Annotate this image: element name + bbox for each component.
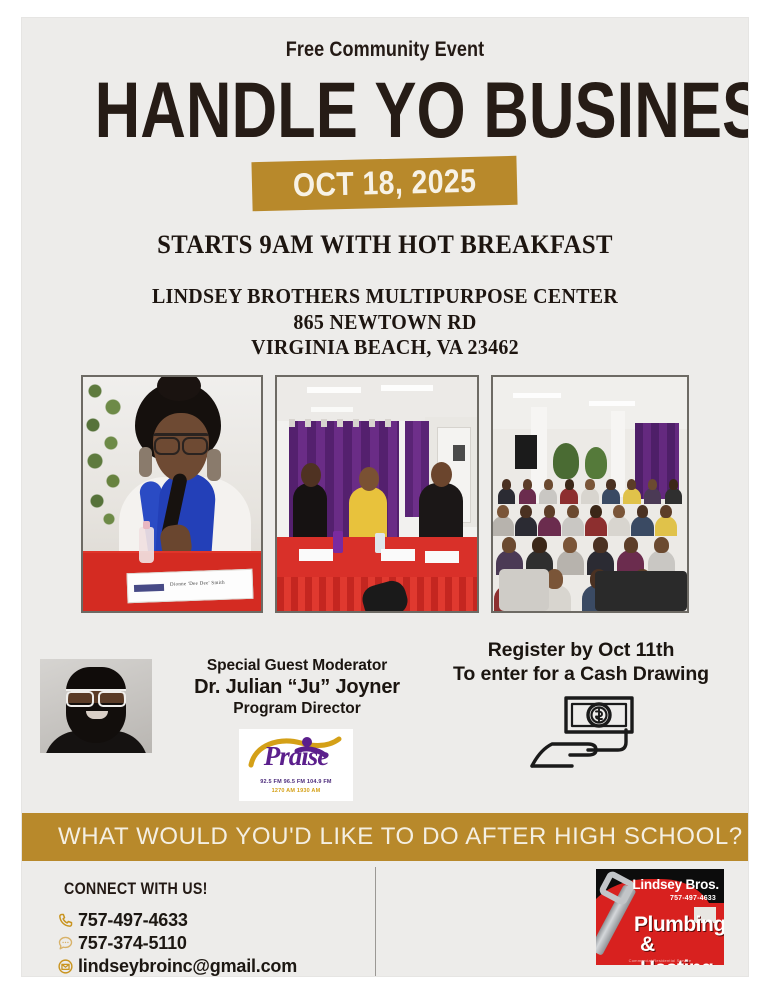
panelist-speaking-photo: Dionne 'Dee Dee' Smith bbox=[81, 375, 263, 613]
event-date-badge: OCT 18, 2025 bbox=[252, 155, 518, 210]
chat-icon bbox=[52, 935, 78, 952]
question-banner-text: WHAT WOULD YOU'D LIKE TO DO AFTER HIGH S… bbox=[22, 823, 743, 851]
lindsey-bros-sponsor-logo: Lindsey Bros. 757-497-4633 Plumbing & He… bbox=[596, 869, 724, 965]
email-address: lindseybroinc@gmail.com bbox=[78, 956, 297, 976]
moderator-headshot bbox=[40, 659, 152, 753]
name-placard: Dionne 'Dee Dee' Smith bbox=[127, 569, 254, 603]
moderator-text-block: Special Guest Moderator Dr. Julian “Ju” … bbox=[172, 657, 422, 718]
contact-row-text[interactable]: 757-374-5110 bbox=[52, 932, 297, 955]
photo-strip: Dionne 'Dee Dee' Smith bbox=[22, 375, 748, 613]
praise-fm-frequencies: 92.5 FM 96.5 FM 104.9 FM bbox=[239, 779, 353, 785]
praise-am-frequencies: 1270 AM 1930 AM bbox=[239, 788, 353, 794]
sponsor-name: Lindsey Bros. bbox=[632, 877, 719, 892]
footer-divider bbox=[375, 867, 376, 976]
question-banner: WHAT WOULD YOU'D LIKE TO DO AFTER HIGH S… bbox=[22, 813, 748, 861]
page-title: HANDLE YO BUSINESS bbox=[95, 74, 676, 147]
connect-heading: CONNECT WITH US! bbox=[64, 879, 208, 899]
register-block: Register by Oct 11th To enter for a Cash… bbox=[420, 639, 742, 770]
register-deadline: Register by Oct 11th bbox=[420, 639, 742, 662]
moderator-register-row: Special Guest Moderator Dr. Julian “Ju” … bbox=[22, 639, 748, 799]
contact-row-email[interactable]: lindseybroinc@gmail.com bbox=[52, 955, 297, 976]
sponsor-phone: 757-497-4633 bbox=[670, 895, 716, 902]
sponsor-tagline: Commercial Residential Service bbox=[596, 958, 724, 963]
venue-name: LINDSEY BROTHERS MULTIPURPOSE CENTER bbox=[40, 284, 730, 310]
moderator-label: Special Guest Moderator bbox=[172, 657, 422, 675]
phone-number-1: 757-497-4633 bbox=[78, 910, 188, 931]
moderator-name: Dr. Julian “Ju” Joyner bbox=[172, 676, 422, 699]
date-badge-wrap: OCT 18, 2025 bbox=[22, 159, 748, 208]
phone-number-2: 757-374-5110 bbox=[78, 933, 187, 954]
venue-city-state-zip: VIRGINIA BEACH, VA 23462 bbox=[40, 335, 730, 361]
phone-icon bbox=[52, 912, 78, 929]
contact-row-phone[interactable]: 757-497-4633 bbox=[52, 909, 297, 932]
praise-radio-logo: Praise 92.5 FM 96.5 FM 104.9 FM 1270 AM … bbox=[239, 729, 353, 801]
footer: CONNECT WITH US! 757-497-4633 bbox=[22, 861, 748, 976]
audience-room-photo bbox=[491, 375, 689, 613]
flyer-page: Free Community Event HANDLE YO BUSINESS … bbox=[22, 18, 748, 976]
kicker-text: Free Community Event bbox=[73, 38, 697, 62]
contact-list: 757-497-4633 757-374-5110 bbox=[52, 909, 297, 976]
praise-wordmark: Praise bbox=[239, 741, 353, 772]
envelope-icon bbox=[52, 958, 78, 975]
panel-table-photo bbox=[275, 375, 479, 613]
hand-holding-cash-icon bbox=[420, 692, 742, 770]
venue-block: LINDSEY BROTHERS MULTIPURPOSE CENTER 865… bbox=[40, 284, 730, 361]
event-subheading: STARTS 9AM WITH HOT BREAKFAST bbox=[40, 230, 730, 260]
register-incentive: To enter for a Cash Drawing bbox=[420, 663, 742, 686]
name-placard-text: Dionne 'Dee Dee' Smith bbox=[170, 581, 225, 588]
moderator-title: Program Director bbox=[172, 700, 422, 718]
venue-street: 865 NEWTOWN RD bbox=[40, 310, 730, 336]
event-date-text: OCT 18, 2025 bbox=[293, 163, 477, 200]
